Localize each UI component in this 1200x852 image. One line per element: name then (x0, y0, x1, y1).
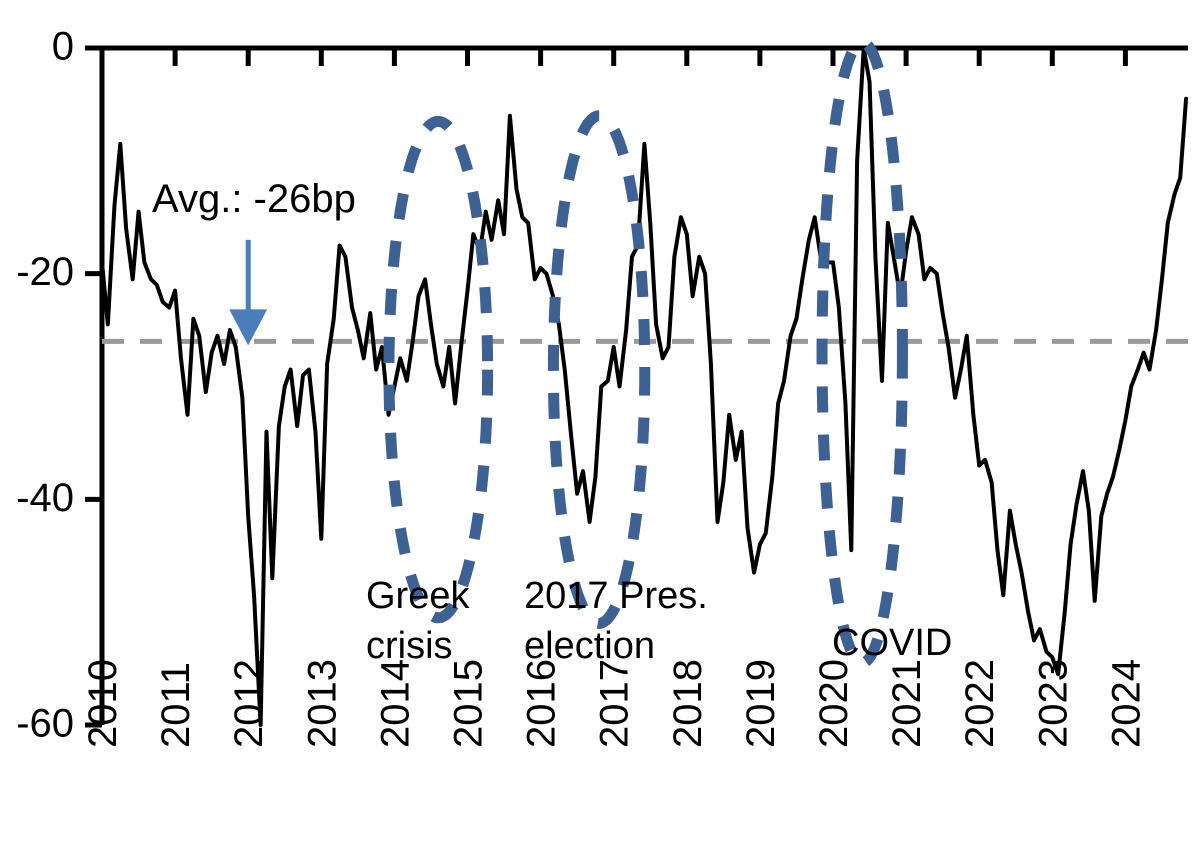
election-label-line1: 2017 Pres. (524, 575, 708, 617)
y-tick-label-3: -60 (16, 702, 74, 746)
x-tick-label-2016: 2016 (520, 659, 564, 748)
y-tick-label-1: -20 (16, 250, 74, 294)
x-tick-label-2023: 2023 (1031, 659, 1075, 748)
x-axis-tick-labels: 2010201120122013201420152016201720182019… (81, 659, 1148, 748)
covid-label: COVID (832, 622, 952, 664)
greek-crisis-label-line2: crisis (366, 625, 453, 667)
x-tick-label-2014: 2014 (373, 659, 417, 748)
y-tick-label-2: -40 (16, 476, 74, 520)
x-tick-label-2015: 2015 (447, 659, 491, 748)
x-tick-label-2022: 2022 (958, 659, 1002, 748)
x-tick-label-2013: 2013 (300, 659, 344, 748)
x-tick-label-2012: 2012 (227, 659, 271, 748)
avg-annotation-label: Avg.: -26bp (152, 177, 356, 221)
x-tick-label-2020: 2020 (812, 659, 856, 748)
x-tick-label-2019: 2019 (739, 659, 783, 748)
x-tick-label-2021: 2021 (885, 659, 929, 748)
x-tick-label-2011: 2011 (154, 662, 198, 748)
x-tick-label-2017: 2017 (593, 659, 637, 748)
line-chart: 0-20-40-60 20102011201220132014201520162… (0, 0, 1200, 852)
chart-canvas: 0-20-40-60 20102011201220132014201520162… (0, 0, 1200, 852)
greek-crisis-label-line1: Greek (366, 575, 470, 617)
x-tick-label-2018: 2018 (666, 659, 710, 748)
x-tick-label-2010: 2010 (81, 659, 125, 748)
x-tick-label-2024: 2024 (1104, 659, 1148, 748)
election-label-line2: election (524, 625, 655, 667)
y-tick-label-0: 0 (52, 25, 74, 69)
